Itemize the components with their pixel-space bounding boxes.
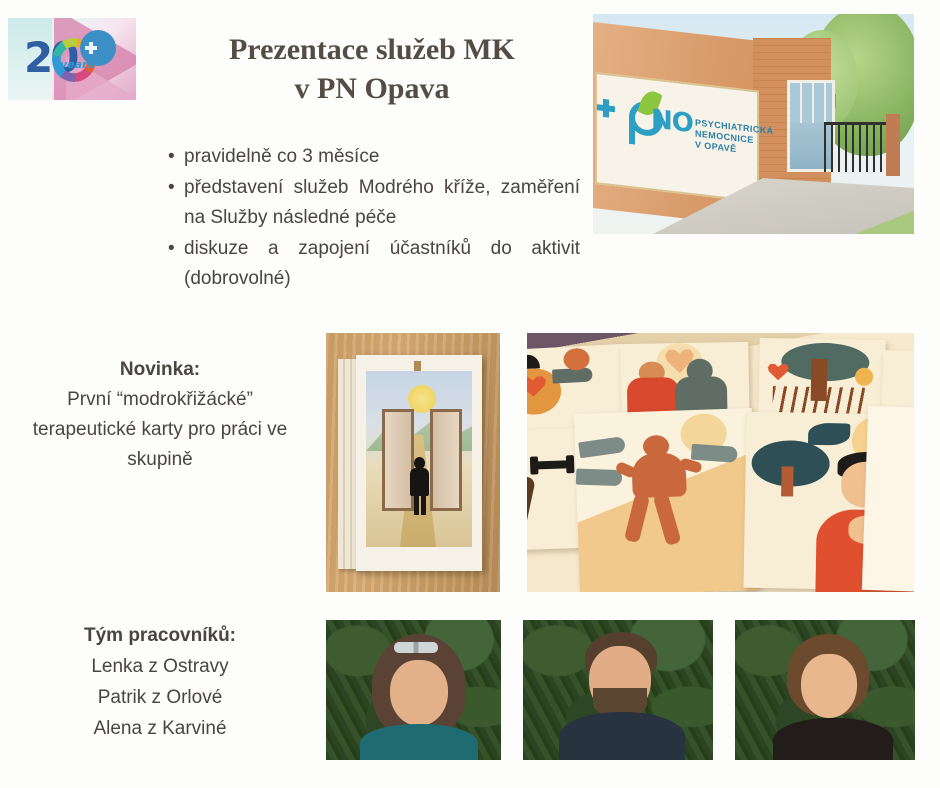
bullet-marker-icon: • bbox=[168, 234, 184, 264]
cross-icon bbox=[85, 42, 97, 54]
team-text-block: Tým pracovníků: Lenka z Ostravy Patrik z… bbox=[0, 620, 320, 744]
portrait-face bbox=[801, 654, 857, 718]
bird-icon bbox=[808, 423, 850, 446]
list-item: • diskuze a zapojení účastníků do aktivi… bbox=[168, 234, 580, 294]
arm-shape bbox=[527, 475, 536, 540]
novinka-line-2: terapeutické karty pro práci ve bbox=[0, 415, 320, 445]
bullet-text: představení služeb Modrého kříže, zaměře… bbox=[184, 173, 580, 233]
hand-icon bbox=[691, 444, 738, 463]
logo-cross-badge-icon bbox=[80, 30, 116, 66]
top-card bbox=[356, 355, 482, 571]
therapy-card bbox=[862, 406, 914, 592]
team-member: Alena z Karviné bbox=[0, 713, 320, 744]
card-spread-image bbox=[527, 333, 914, 592]
therapy-card-main bbox=[574, 408, 758, 592]
slide-title-line-2: v PN Opava bbox=[152, 69, 592, 108]
portrait-body bbox=[360, 724, 478, 760]
hospital-sign: NO PSYCHIATRICKÁ NEMOCNICE V OPAVĚ bbox=[595, 72, 759, 203]
heart-icon bbox=[767, 362, 789, 380]
presentation-slide: 20 years Prezentace služeb MK v PN Opava… bbox=[0, 0, 940, 788]
team-member: Lenka z Ostravy bbox=[0, 651, 320, 682]
novinka-heading: Novinka: bbox=[0, 355, 320, 385]
bullet-text: diskuze a zapojení účastníků do aktivit … bbox=[184, 234, 580, 294]
dumbbell-icon bbox=[532, 460, 572, 469]
fruit-icon bbox=[855, 368, 873, 386]
portrait-body bbox=[773, 718, 893, 760]
slide-title: Prezentace služeb MK v PN Opava bbox=[152, 30, 592, 108]
bullet-marker-icon: • bbox=[168, 173, 184, 203]
portrait-photo-alena bbox=[735, 620, 915, 760]
bullet-text: pravidelně co 3 měsíce bbox=[184, 142, 580, 172]
bullet-list: • pravidelně co 3 měsíce • představení s… bbox=[168, 142, 580, 295]
hospital-logo-text: NO bbox=[651, 104, 693, 139]
iron-gate bbox=[824, 124, 890, 172]
card-artwork bbox=[366, 371, 472, 547]
portrait-photo-patrik bbox=[523, 620, 713, 760]
gate-pillar bbox=[886, 114, 900, 176]
hospital-building-image: NO PSYCHIATRICKÁ NEMOCNICE V OPAVĚ bbox=[593, 14, 914, 234]
figure-leg bbox=[653, 492, 682, 546]
team-member: Patrik z Orlové bbox=[0, 682, 320, 713]
portrait-photo-lenka bbox=[326, 620, 501, 760]
sunglasses-icon bbox=[394, 642, 438, 653]
team-heading: Tým pracovníků: bbox=[0, 620, 320, 651]
novinka-line-3: skupině bbox=[0, 445, 320, 475]
list-item: • představení služeb Modrého kříže, zamě… bbox=[168, 173, 580, 233]
door-right-icon bbox=[430, 409, 462, 511]
novinka-text-block: Novinka: První “modrokřižácké” terapeuti… bbox=[0, 355, 320, 475]
cross-icon bbox=[597, 98, 615, 118]
tree-trunk bbox=[781, 466, 794, 496]
figure-leg bbox=[624, 493, 650, 543]
figure-body bbox=[410, 468, 429, 496]
hat-icon bbox=[527, 354, 540, 370]
list-item: • pravidelně co 3 měsíce bbox=[168, 142, 580, 172]
portrait-face bbox=[390, 660, 448, 726]
anniversary-logo: 20 years bbox=[8, 18, 136, 100]
door-glass bbox=[790, 83, 832, 123]
bullet-marker-icon: • bbox=[168, 142, 184, 172]
person-silhouette-icon bbox=[410, 457, 428, 515]
figure-leg bbox=[421, 494, 426, 515]
hand-icon bbox=[578, 436, 626, 458]
therapy-card bbox=[758, 338, 885, 424]
portrait-body bbox=[559, 712, 685, 760]
card-stack-image bbox=[326, 333, 500, 592]
slide-title-line-1: Prezentace služeb MK bbox=[152, 30, 592, 69]
figure-leg bbox=[414, 494, 419, 515]
tree-roots-icon bbox=[772, 386, 864, 414]
novinka-line-1: První “modrokřižácké” bbox=[0, 385, 320, 415]
hand-icon bbox=[576, 469, 623, 487]
walking-figure-icon bbox=[631, 452, 687, 498]
